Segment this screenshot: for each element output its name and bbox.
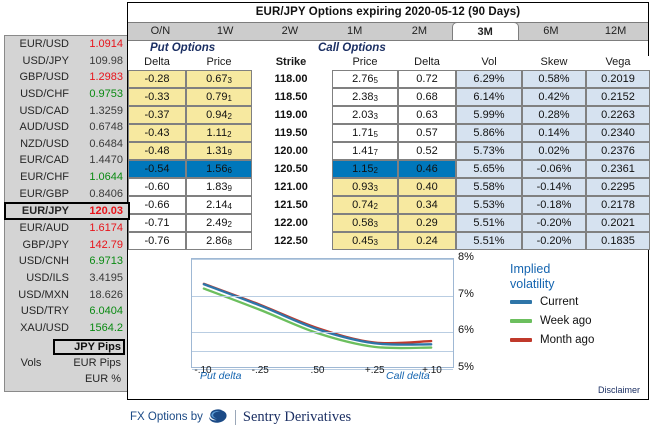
rate-pair-label: USD/CHF [9,88,77,100]
rate-row[interactable]: XAU/USD1564.2 [5,320,129,337]
fractional-pip: 9 [227,148,231,157]
cell-call-price: 1.152 [332,160,398,178]
header-vol: Vol [456,56,522,70]
rate-pair-label: USD/MXN [9,289,77,301]
cell-put-delta: -0.37 [128,106,186,124]
table-row-atm[interactable]: -0.541.566120.501.1520.465.65%-0.06%0.23… [128,160,650,178]
footer-divider [235,410,236,425]
fractional-pip: 5 [373,76,377,85]
options-card: EUR/JPY Options expiring 2020-05-12 (90 … [127,2,649,400]
cell-skew: 0.02% [522,142,586,160]
legend-title-line2: volatility [510,277,640,292]
cell-call-delta: 0.34 [398,196,456,214]
header-gap [252,56,260,70]
cell-gap2 [322,160,332,178]
rate-pair-label: USD/CNH [9,255,77,267]
cell-call-price: 0.453 [332,232,398,250]
tenor-tab-strip: O/N1W2W1M2M3M6M12M [128,22,648,41]
plot-area [191,258,454,368]
cell-call-price: 2.033 [332,106,398,124]
rate-pair-label: EUR/CAD [9,154,77,166]
cell-skew: -0.20% [522,214,586,232]
cell-call-price: 0.742 [332,196,398,214]
rate-value: 18.626 [77,289,123,301]
cell-gap [252,106,260,124]
cell-put-price: 0.673 [186,70,252,88]
rate-value: 1.6174 [77,222,123,234]
cell-call-price: 2.765 [332,70,398,88]
cell-vol: 5.86% [456,124,522,142]
rate-pair-label: USD/CAD [9,105,77,117]
cell-put-delta: -0.66 [128,196,186,214]
disclaimer-link[interactable]: Disclaimer [598,385,640,395]
rate-value: 1.3259 [77,105,123,117]
rates-sidebar: EUR/USD1.0914USD/JPY109.98GBP/USD1.2983U… [4,35,130,392]
rate-row[interactable]: EUR/AUD1.6174 [5,220,129,237]
header-put-delta: Delta [128,56,186,70]
cell-put-price: 0.942 [186,106,252,124]
rate-pair-label: EUR/CHF [9,171,77,183]
gridline [192,332,453,333]
y-tick-label: 6% [458,324,474,336]
tab-1w[interactable]: 1W [193,23,258,40]
rate-pair-label: EUR/AUD [9,222,77,234]
fractional-pip: 7 [373,148,377,157]
sentry-logo-icon [208,408,229,427]
options-table-body: -0.280.673118.002.7650.726.29%0.58%0.201… [128,70,650,250]
cell-vol: 5.58% [456,178,522,196]
fractional-pip: 6 [227,166,231,175]
cell-call-price: 1.715 [332,124,398,142]
rate-row[interactable]: USD/ILS3.4195 [5,270,129,287]
cell-skew: -0.06% [522,160,586,178]
cell-strike: 121.50 [260,196,322,214]
cell-put-price: 1.112 [186,124,252,142]
footer-branding: FX Options by Sentry Derivatives [130,408,351,426]
rate-pair-label: NZD/USD [9,138,77,150]
cell-call-delta: 0.40 [398,178,456,196]
cell-vega: 0.2340 [586,124,650,142]
cell-skew: -0.20% [522,232,586,250]
rate-value: 6.0404 [77,305,123,317]
cell-skew: 0.42% [522,88,586,106]
cell-gap2 [322,178,332,196]
rate-value: 1.4470 [77,154,123,166]
rate-value: 1.0644 [77,171,123,183]
cell-gap [252,196,260,214]
header-vega: Vega [586,56,650,70]
rate-value: 0.8406 [77,188,123,200]
page-title: EUR/JPY Options expiring 2020-05-12 (90 … [128,3,648,22]
fractional-pip: 3 [373,94,377,103]
rate-pair-label: GBP/USD [9,71,77,83]
cell-gap [252,232,260,250]
cell-put-price: 1.319 [186,142,252,160]
cell-vega: 0.2361 [586,160,650,178]
table-row[interactable]: -0.601.839121.000.9330.405.58%-0.14%0.22… [128,178,650,196]
fractional-pip: 2 [227,220,231,229]
rate-value: 1.0914 [77,38,123,50]
rate-row[interactable]: USD/JPY109.98 [5,53,129,70]
rates-list: EUR/USD1.0914USD/JPY109.98GBP/USD1.2983U… [5,36,129,336]
cell-gap [252,142,260,160]
cell-strike: 121.00 [260,178,322,196]
legend-title-line1: Implied [510,262,640,277]
cell-call-delta: 0.57 [398,124,456,142]
cell-vol: 5.53% [456,196,522,214]
tab-12m[interactable]: 12M [583,23,648,40]
y-tick-label: 5% [458,361,474,373]
fractional-pip: 3 [373,184,377,193]
rate-row[interactable]: EUR/CAD1.4470 [5,152,129,169]
cell-vol: 6.14% [456,88,522,106]
fractional-pip: 4 [227,202,231,211]
header-strike: Strike [260,56,322,70]
rate-value: 0.6484 [77,138,123,150]
cell-put-delta: -0.48 [128,142,186,160]
cell-call-price: 0.583 [332,214,398,232]
vol-unit-label: EUR Pips [57,357,123,369]
rate-row[interactable]: GBP/JPY142.79 [5,237,129,254]
cell-skew: -0.18% [522,196,586,214]
cell-call-price: 0.933 [332,178,398,196]
fractional-pip: 1 [227,94,231,103]
cell-vega: 0.2295 [586,178,650,196]
rate-row[interactable]: USD/CHF0.9753 [5,86,129,103]
cell-gap2 [322,232,332,250]
tab-2w[interactable]: 2W [258,23,323,40]
footer-prefix: FX Options by [130,411,203,423]
cell-put-delta: -0.28 [128,70,186,88]
cell-gap2 [322,142,332,160]
cell-strike: 120.00 [260,142,322,160]
header-call-price: Price [332,56,398,70]
cell-gap2 [322,196,332,214]
section-headings: Put Options Call Options [128,41,648,56]
fractional-pip: 2 [227,112,231,121]
y-tick-label: 7% [458,288,474,300]
tab-2m[interactable]: 2M [387,23,452,40]
tab-on[interactable]: O/N [128,23,193,40]
rate-row[interactable]: NZD/USD0.6484 [5,136,129,153]
cell-gap2 [322,124,332,142]
vols-group-label: Vols [5,357,57,369]
cell-call-delta: 0.29 [398,214,456,232]
cell-call-delta: 0.68 [398,88,456,106]
table-row[interactable]: -0.481.319120.001.4170.525.73%0.02%0.237… [128,142,650,160]
cell-put-price: 0.791 [186,88,252,106]
cell-strike: 122.50 [260,232,322,250]
cell-gap [252,88,260,106]
cell-call-delta: 0.24 [398,232,456,250]
cell-put-price: 2.868 [186,232,252,250]
fractional-pip: 9 [227,184,231,193]
cell-put-delta: -0.43 [128,124,186,142]
gridline [192,296,453,297]
header-gap2 [322,56,332,70]
cell-strike: 118.00 [260,70,322,88]
cell-vega: 0.2019 [586,70,650,88]
legend-color-swatch [510,319,532,323]
fractional-pip: 3 [373,238,377,247]
legend-item[interactable]: Current [510,293,640,311]
rate-value: 3.4195 [77,272,123,284]
cell-gap2 [322,214,332,232]
rate-row[interactable]: AUD/USD0.6748 [5,119,129,136]
rate-pair-label: USD/JPY [9,55,77,67]
rate-pair-label: EUR/JPY [9,205,77,217]
gridline [192,259,453,260]
vol-unit-option[interactable]: EUR % [5,371,129,387]
fractional-pip: 2 [227,130,231,139]
cell-call-delta: 0.72 [398,70,456,88]
cell-vega: 0.2021 [586,214,650,232]
cell-gap [252,178,260,196]
y-tick-label: 8% [458,251,474,263]
cell-gap [252,124,260,142]
cell-put-delta: -0.60 [128,178,186,196]
x-tick-label: .50 [298,365,338,376]
rate-pair-label: GBP/JPY [9,239,77,251]
cell-vol: 5.65% [456,160,522,178]
vol-unit-label: EUR % [57,373,123,385]
cell-gap2 [322,70,332,88]
cell-call-delta: 0.63 [398,106,456,124]
vol-unit-option[interactable]: VolsEUR Pips [5,355,129,371]
cell-skew: 0.58% [522,70,586,88]
cell-gap [252,160,260,178]
legend-items: CurrentWeek agoMonth ago [510,293,640,349]
rate-pair-label: EUR/GBP [9,188,77,200]
call-delta-axis-label: Call delta [386,370,430,382]
cell-call-delta: 0.52 [398,142,456,160]
put-delta-axis-label: Put delta [200,370,241,382]
legend-item[interactable]: Month ago [510,331,640,349]
table-row[interactable]: -0.280.673118.002.7650.726.29%0.58%0.201… [128,70,650,88]
tab-3m[interactable]: 3M [452,22,519,40]
fractional-pip: 2 [373,202,377,211]
legend-label: Month ago [540,334,594,346]
chart-legend: Implied volatility CurrentWeek agoMonth … [510,262,640,349]
table-row[interactable]: -0.330.791118.502.3830.686.14%0.42%0.215… [128,88,650,106]
rate-value: 0.9753 [77,88,123,100]
cell-strike: 120.50 [260,160,322,178]
call-options-heading: Call Options [318,42,386,54]
x-tick-label: -.25 [240,365,280,376]
cell-skew: -0.14% [522,178,586,196]
cell-gap2 [322,88,332,106]
legend-label: Week ago [540,315,592,327]
cell-skew: 0.28% [522,106,586,124]
legend-label: Current [540,296,578,308]
rate-row[interactable]: EUR/GBP0.8406 [5,185,129,202]
cell-strike: 119.00 [260,106,322,124]
options-chain-table: Delta Price Strike Price Delta Vol Skew … [128,56,650,250]
header-call-delta: Delta [398,56,456,70]
legend-color-swatch [510,338,532,342]
fractional-pip: 3 [373,220,377,229]
rate-value: 142.79 [77,239,123,251]
vols-selector: JPY PipsVolsEUR PipsEUR % [5,336,129,391]
volatility-smile-chart: -.10-.25.50+.25+.10 8%7%6%5% Put delta C… [128,258,648,386]
rate-row[interactable]: GBP/USD1.2983 [5,69,129,86]
tab-6m[interactable]: 6M [519,23,584,40]
fractional-pip: 8 [227,238,231,247]
cell-put-delta: -0.54 [128,160,186,178]
cell-call-delta: 0.46 [398,160,456,178]
cell-vol: 5.73% [456,142,522,160]
legend-color-swatch [510,300,532,304]
cell-vol: 5.99% [456,106,522,124]
tab-1m[interactable]: 1M [322,23,387,40]
vol-unit-label: JPY Pips [57,341,123,353]
fractional-pip: 3 [227,76,231,85]
series-line-current [204,284,431,344]
header-skew: Skew [522,56,586,70]
rate-value: 0.6748 [77,121,123,133]
cell-put-delta: -0.71 [128,214,186,232]
cell-gap [252,214,260,232]
cell-vega: 0.2178 [586,196,650,214]
cell-put-delta: -0.33 [128,88,186,106]
cell-gap [252,70,260,88]
rate-pair-label: USD/TRY [9,305,77,317]
footer-brand: Sentry Derivatives [243,409,351,426]
table-row[interactable]: -0.431.112119.501.7150.575.86%0.14%0.234… [128,124,650,142]
rate-value: 6.9713 [77,255,123,267]
cell-vega: 0.2152 [586,88,650,106]
fractional-pip: 5 [373,130,377,139]
header-put-price: Price [186,56,252,70]
cell-strike: 118.50 [260,88,322,106]
rate-value: 1564.2 [77,322,123,334]
rate-row[interactable]: USD/TRY6.0404 [5,303,129,320]
cell-put-price: 2.144 [186,196,252,214]
cell-call-price: 1.417 [332,142,398,160]
fractional-pip: 3 [373,112,377,121]
rate-row-selected[interactable]: EUR/JPY120.03 [5,202,129,220]
rate-pair-label: XAU/USD [9,322,77,334]
rate-pair-label: USD/ILS [9,272,77,284]
cell-call-price: 2.383 [332,88,398,106]
cell-vega: 0.2376 [586,142,650,160]
legend-item[interactable]: Week ago [510,312,640,330]
table-row[interactable]: -0.662.144121.500.7420.345.53%-0.18%0.21… [128,196,650,214]
rate-value: 109.98 [77,55,123,67]
cell-strike: 119.50 [260,124,322,142]
rate-value: 1.2983 [77,71,123,83]
cell-put-price: 2.492 [186,214,252,232]
cell-vega: 0.2263 [586,106,650,124]
rate-row[interactable]: USD/MXN18.626 [5,286,129,303]
cell-vega: 0.1835 [586,232,650,250]
table-header-row: Delta Price Strike Price Delta Vol Skew … [128,56,650,70]
rate-row[interactable]: USD/CNH6.9713 [5,253,129,270]
table-row[interactable]: -0.762.868122.500.4530.245.51%-0.20%0.18… [128,232,650,250]
cell-gap2 [322,106,332,124]
fractional-pip: 2 [373,166,377,175]
cell-vol: 5.51% [456,232,522,250]
rate-pair-label: EUR/USD [9,38,77,50]
put-options-heading: Put Options [150,42,215,54]
cell-put-price: 1.839 [186,178,252,196]
rate-row[interactable]: EUR/CHF1.0644 [5,169,129,186]
cell-vol: 5.51% [456,214,522,232]
cell-skew: 0.14% [522,124,586,142]
table-row[interactable]: -0.712.492122.000.5830.295.51%-0.20%0.20… [128,214,650,232]
table-row[interactable]: -0.370.942119.002.0330.635.99%0.28%0.226… [128,106,650,124]
rate-pair-label: AUD/USD [9,121,77,133]
rate-value: 120.03 [77,205,123,217]
cell-put-price: 1.566 [186,160,252,178]
vol-unit-option[interactable]: JPY Pips [5,339,129,355]
cell-strike: 122.00 [260,214,322,232]
cell-vol: 6.29% [456,70,522,88]
rate-row[interactable]: EUR/USD1.0914 [5,36,129,53]
cell-put-delta: -0.76 [128,232,186,250]
rate-row[interactable]: USD/CAD1.3259 [5,102,129,119]
gridline [192,351,453,352]
